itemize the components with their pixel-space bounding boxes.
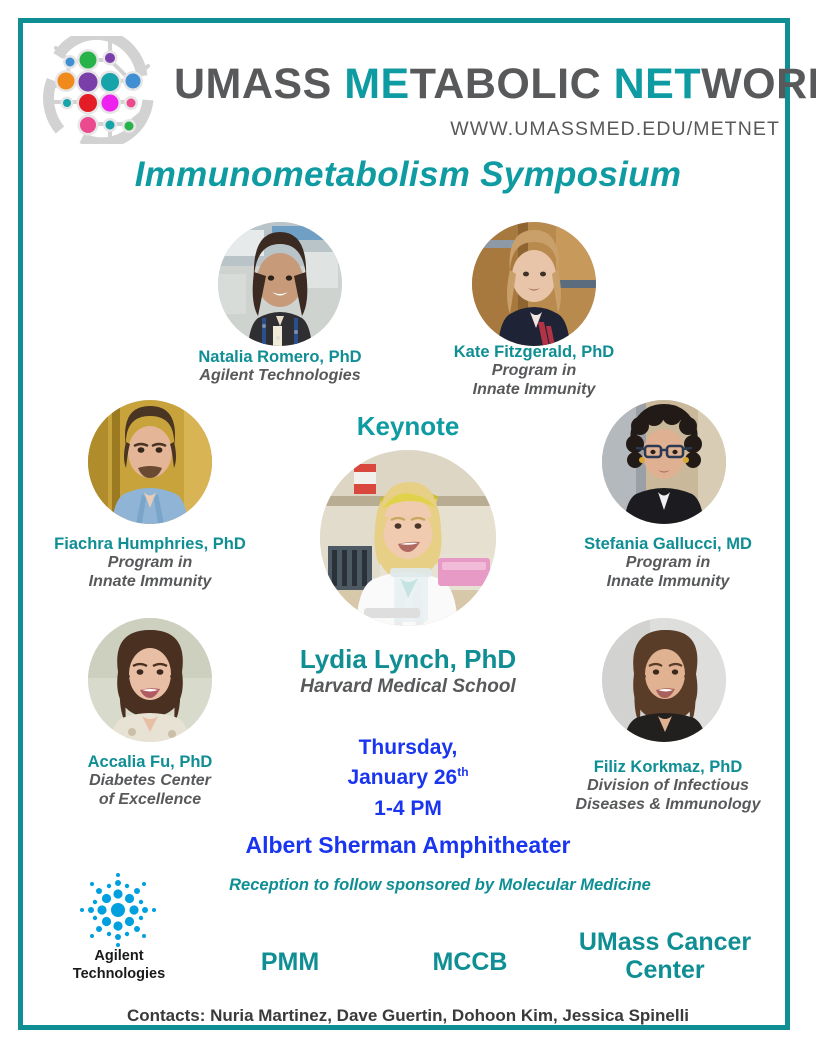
website-url: WWW.UMASSMED.EDU/METNET bbox=[450, 118, 780, 141]
agilent-label: Agilent Technologies bbox=[58, 948, 180, 983]
photo-natalia-romero bbox=[218, 222, 342, 346]
brand-work: WORK bbox=[701, 60, 816, 108]
keynote-name: Lydia Lynch, PhD bbox=[258, 645, 558, 674]
caption-kate-fitzgerald: Kate Fitzgerald, PhD Program in Innate I… bbox=[424, 343, 644, 400]
keynote-label: Keynote bbox=[258, 411, 558, 442]
caption-natalia-romero: Natalia Romero, PhD Agilent Technologies bbox=[170, 348, 390, 386]
reception-note: Reception to follow sponsored by Molecul… bbox=[140, 876, 740, 895]
sponsor-umass-cancer-center: UMass Cancer Center bbox=[555, 928, 775, 984]
speaker-name: Stefania Gallucci, MD bbox=[548, 535, 788, 554]
speaker-name: Natalia Romero, PhD bbox=[170, 348, 390, 367]
speaker-name: Filiz Korkmaz, PhD bbox=[538, 758, 798, 777]
ucc-line1: UMass Cancer bbox=[555, 928, 775, 956]
brand-umass: UMASS bbox=[174, 60, 344, 108]
speaker-affiliation-line: Diabetes Center bbox=[40, 772, 260, 791]
photo-filiz-korkmaz bbox=[602, 618, 726, 742]
photo-stefania-gallucci bbox=[602, 400, 726, 524]
speaker-name: Accalia Fu, PhD bbox=[40, 753, 260, 772]
header: UMASS METABOLIC NETWORK WWW.UMASSMED.EDU… bbox=[34, 34, 782, 146]
sponsor-mccb: MCCB bbox=[380, 948, 560, 976]
event-date-month: January 26 bbox=[347, 766, 457, 789]
event-venue: Albert Sherman Amphitheater bbox=[108, 832, 708, 859]
brand-olic: OLIC bbox=[496, 60, 613, 108]
agilent-line1: Agilent bbox=[58, 948, 180, 966]
contacts-line: Contacts: Nuria Martinez, Dave Guertin, … bbox=[28, 1006, 788, 1026]
event-date-suffix: th bbox=[457, 765, 468, 779]
speaker-affiliation-line: Agilent Technologies bbox=[170, 367, 390, 386]
speaker-affiliation-line: Division of Infectious bbox=[538, 777, 798, 796]
speaker-affiliation-line: Program in bbox=[30, 554, 270, 573]
umass-metabolic-network-logo bbox=[36, 36, 164, 144]
page-title: Immunometabolism Symposium bbox=[0, 155, 816, 195]
event-time: 1-4 PM bbox=[258, 794, 558, 824]
speaker-affiliation-line: of Excellence bbox=[40, 791, 260, 810]
caption-stefania-gallucci: Stefania Gallucci, MD Program in Innate … bbox=[548, 535, 788, 592]
caption-accalia-fu: Accalia Fu, PhD Diabetes Center of Excel… bbox=[40, 753, 260, 810]
ucc-line2: Center bbox=[555, 956, 775, 984]
speaker-affiliation-line: Innate Immunity bbox=[30, 573, 270, 592]
event-date: January 26th bbox=[258, 763, 558, 793]
speaker-affiliation-line: Innate Immunity bbox=[424, 381, 644, 400]
agilent-line2: Technologies bbox=[58, 966, 180, 984]
photo-fiachra-humphries bbox=[88, 400, 212, 524]
symposium-poster: UMASS METABOLIC NETWORK WWW.UMASSMED.EDU… bbox=[0, 0, 816, 1056]
keynote-affiliation: Harvard Medical School bbox=[238, 676, 578, 698]
speaker-affiliation-line: Diseases & Immunology bbox=[538, 796, 798, 815]
speaker-name: Kate Fitzgerald, PhD bbox=[424, 343, 644, 362]
photo-lydia-lynch bbox=[320, 450, 496, 626]
caption-fiachra-humphries: Fiachra Humphries, PhD Program in Innate… bbox=[30, 535, 270, 592]
speaker-affiliation-line: Program in bbox=[424, 362, 644, 381]
caption-filiz-korkmaz: Filiz Korkmaz, PhD Division of Infectiou… bbox=[538, 758, 798, 815]
photo-kate-fitzgerald bbox=[472, 222, 596, 346]
brand-tab: TAB bbox=[410, 60, 497, 108]
event-day: Thursday, bbox=[258, 733, 558, 763]
speaker-name: Fiachra Humphries, PhD bbox=[30, 535, 270, 554]
event-details: Thursday, January 26th 1-4 PM bbox=[258, 733, 558, 824]
brand-me: ME bbox=[344, 60, 410, 108]
brand-net: NET bbox=[614, 60, 702, 108]
speaker-affiliation-line: Innate Immunity bbox=[548, 573, 788, 592]
sponsor-agilent: Agilent Technologies bbox=[58, 872, 180, 990]
brand-title: UMASS METABOLIC NETWORK bbox=[174, 60, 816, 109]
agilent-star-icon bbox=[72, 872, 164, 948]
photo-accalia-fu bbox=[88, 618, 212, 742]
speaker-affiliation-line: Program in bbox=[548, 554, 788, 573]
sponsor-pmm: PMM bbox=[200, 948, 380, 976]
